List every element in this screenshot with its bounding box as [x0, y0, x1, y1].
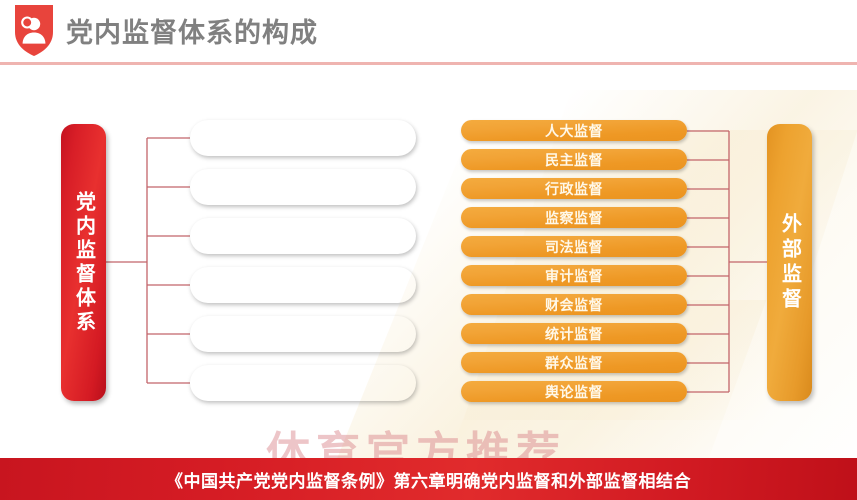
- internal-item-2[interactable]: 纪律检查机关专责监督: [190, 218, 416, 254]
- footer-banner: 《中国共产党党内监督条例》第六章明确党内监督和外部监督相结合: [0, 458, 857, 500]
- connector-lines: [0, 0, 857, 500]
- slide-root: 党内监督体系的构成: [0, 0, 857, 500]
- internal-item-label: 党中央统一领导: [249, 128, 358, 149]
- internal-item-label: 党员民主监督: [256, 373, 349, 394]
- external-supervision-pillar[interactable]: 外部监督: [767, 124, 812, 401]
- external-item-5[interactable]: 审计监督: [461, 265, 687, 286]
- internal-supervision-pillar[interactable]: 党内监督体系: [61, 124, 106, 401]
- external-item-label: 监察监督: [545, 208, 603, 228]
- external-item-label: 审计监督: [545, 266, 603, 286]
- external-item-9[interactable]: 舆论监督: [461, 381, 687, 402]
- external-item-2[interactable]: 行政监督: [461, 178, 687, 199]
- internal-supervision-pillar-label: 党内监督体系: [74, 191, 94, 335]
- external-item-label: 群众监督: [545, 353, 603, 373]
- internal-item-3[interactable]: 党的工作部门职能监督: [190, 267, 416, 303]
- internal-item-label: 党的基层组织日常监督: [225, 324, 380, 345]
- external-item-0[interactable]: 人大监督: [461, 120, 687, 141]
- internal-items-column: 党中央统一领导 党委（党组）全面监督 纪律检查机关专责监督 党的工作部门职能监督…: [190, 120, 416, 405]
- external-item-6[interactable]: 财会监督: [461, 294, 687, 315]
- external-supervision-pillar-label: 外部监督: [780, 213, 800, 313]
- external-item-1[interactable]: 民主监督: [461, 149, 687, 170]
- internal-item-label: 纪律检查机关专责监督: [225, 226, 380, 247]
- external-item-label: 舆论监督: [545, 382, 603, 402]
- external-item-8[interactable]: 群众监督: [461, 352, 687, 373]
- external-items-column: 人大监督 民主监督 行政监督 监察监督 司法监督 审计监督 财会监督 统计监督 …: [461, 120, 687, 405]
- page-title: 党内监督体系的构成: [66, 11, 318, 50]
- internal-item-0[interactable]: 党中央统一领导: [190, 120, 416, 156]
- footer-banner-text: 《中国共产党党内监督条例》第六章明确党内监督和外部监督相结合: [166, 467, 691, 492]
- shield-people-icon: [13, 2, 55, 58]
- external-item-label: 统计监督: [545, 324, 603, 344]
- external-item-label: 人大监督: [545, 121, 603, 141]
- internal-item-label: 党委（党组）全面监督: [225, 177, 380, 198]
- internal-item-5[interactable]: 党员民主监督: [190, 365, 416, 401]
- internal-item-1[interactable]: 党委（党组）全面监督: [190, 169, 416, 205]
- external-item-7[interactable]: 统计监督: [461, 323, 687, 344]
- internal-item-label: 党的工作部门职能监督: [225, 275, 380, 296]
- external-item-label: 司法监督: [545, 237, 603, 257]
- external-item-label: 行政监督: [545, 179, 603, 199]
- external-item-label: 民主监督: [545, 150, 603, 170]
- external-item-4[interactable]: 司法监督: [461, 236, 687, 257]
- header-divider: [0, 62, 857, 65]
- external-item-label: 财会监督: [545, 295, 603, 315]
- internal-item-4[interactable]: 党的基层组织日常监督: [190, 316, 416, 352]
- external-item-3[interactable]: 监察监督: [461, 207, 687, 228]
- slide-header: 党内监督体系的构成: [0, 0, 857, 62]
